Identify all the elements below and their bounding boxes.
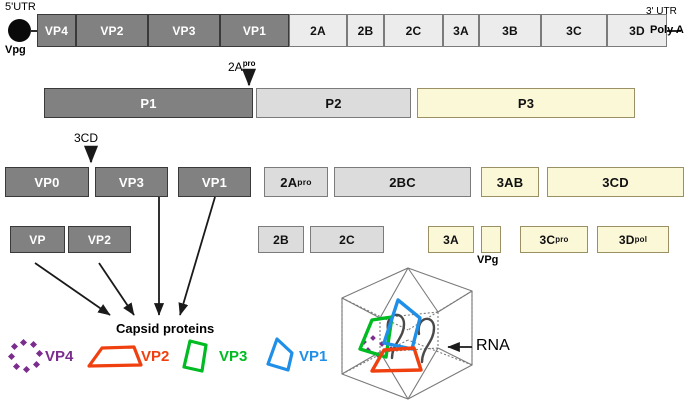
capsid-shape-vp2-orange [372,348,421,371]
legend-shape-vp1-quad [268,339,292,370]
arrow-vp1-to-capsid [180,197,215,315]
capsid-outer-hexagon [342,268,472,399]
legend-shape-vp4-dotted-circle [8,339,43,373]
legend-shape-vp2-trapezoid [89,347,141,366]
legend-shape-vp3-quad [184,341,206,371]
arrow-vp-to-capsid [35,263,110,315]
arrow-vp2-to-capsid [99,263,134,315]
capsid-rna-strand [388,315,434,362]
figure-canvas: 5'UTR Vpg VP4VP2VP3VP12A2B2C3A3B3C3D 3' … [0,0,697,420]
vector-overlay [0,0,697,420]
capsid-icosahedron [342,268,472,399]
